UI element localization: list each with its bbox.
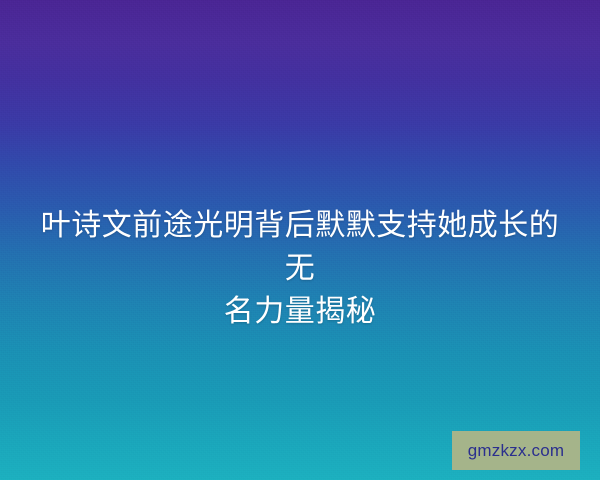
watermark-url-text: gmzkzx.com bbox=[468, 442, 564, 459]
image-canvas: 叶诗文前途光明背后默默支持她成长的无 名力量揭秘 gmzkzx.com bbox=[0, 0, 600, 480]
headline-text: 叶诗文前途光明背后默默支持她成长的无 名力量揭秘 bbox=[28, 204, 572, 333]
watermark-badge: gmzkzx.com bbox=[452, 431, 580, 470]
